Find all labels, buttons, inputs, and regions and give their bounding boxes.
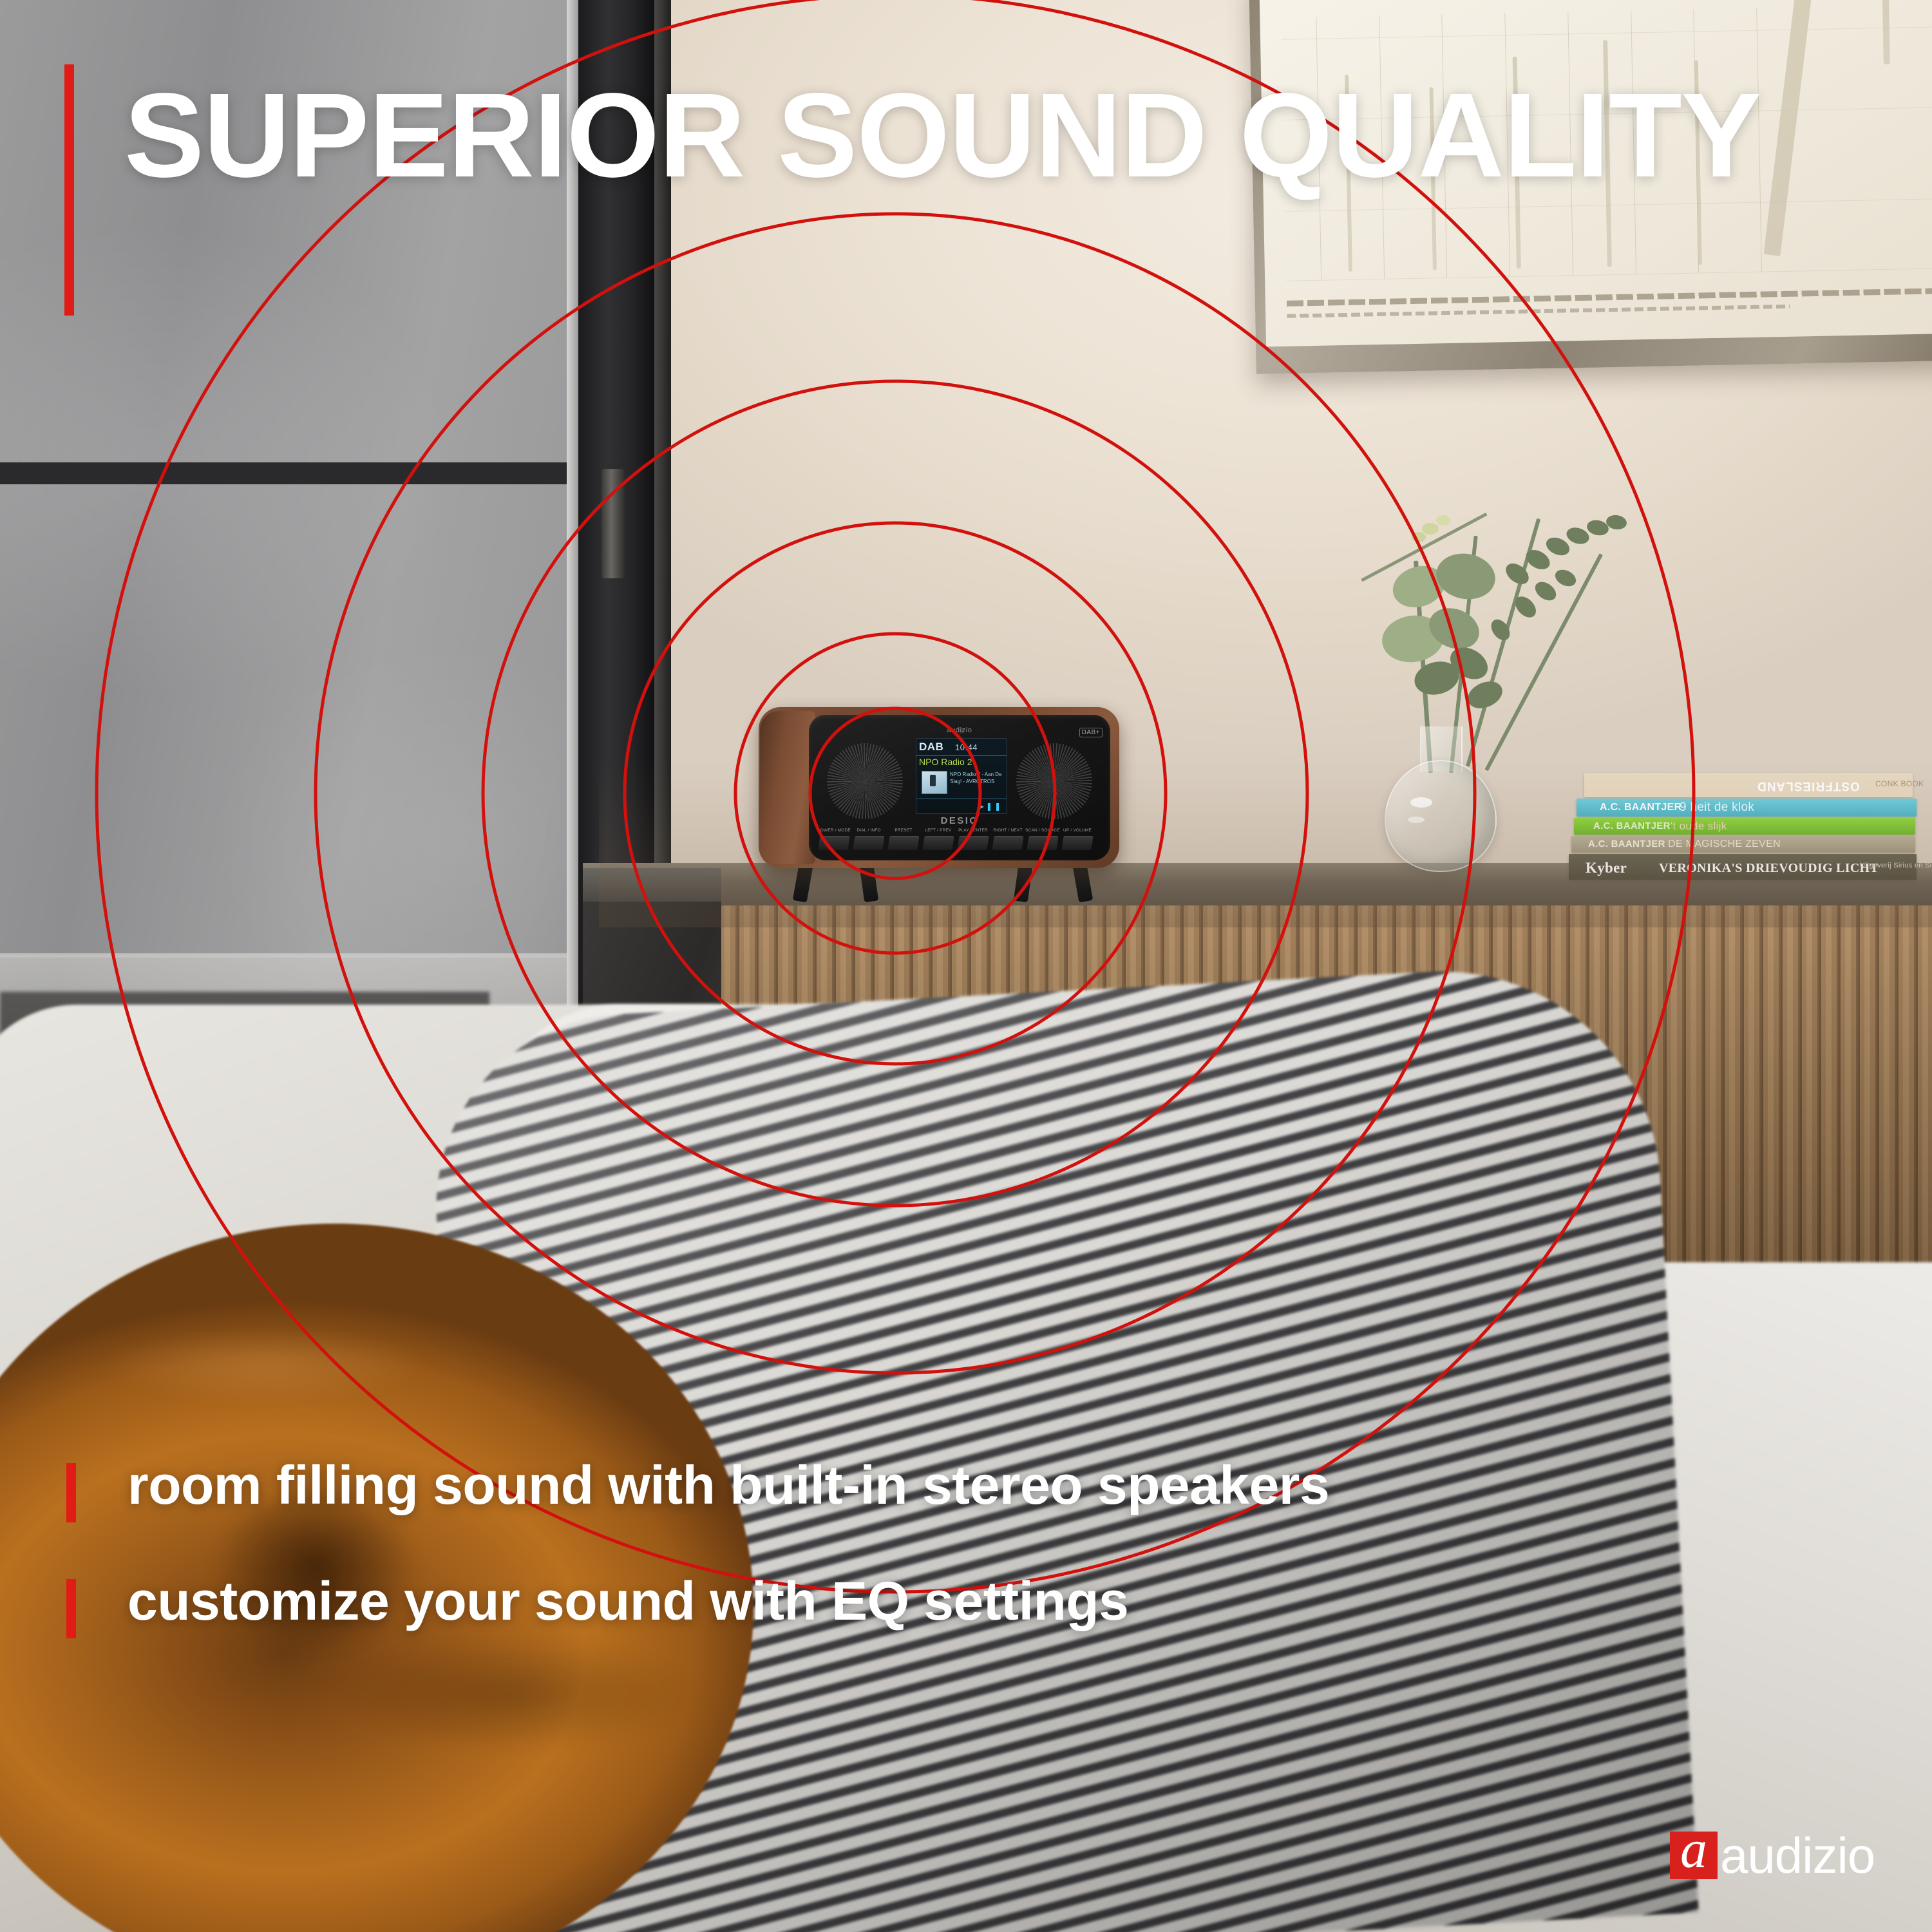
display-album-art <box>922 771 947 794</box>
radio-button-label: SCAN / SOURCE <box>1023 828 1063 833</box>
dab-radio-product: audizio DAB+ DAB 10:44 NPO Radio 2 NPO R… <box>759 707 1119 900</box>
page-title: SUPERIOR SOUND QUALITY <box>124 76 1761 196</box>
door-hinge <box>601 469 625 578</box>
radio-button[interactable] <box>1061 836 1093 850</box>
logo-wordmark: audizio <box>1720 1830 1875 1880</box>
radio-button-label: DIAL / INFO <box>849 828 889 833</box>
display-station-name: NPO Radio 2 <box>919 757 972 767</box>
product-model-name: DESIO <box>809 815 1110 826</box>
radio-button-label: PLAY / ENTER <box>953 828 993 833</box>
radio-button[interactable] <box>922 836 954 850</box>
radio-side-panel <box>760 711 815 864</box>
radio-button[interactable] <box>887 836 919 850</box>
headline-accent-bar <box>64 64 74 316</box>
radio-button-label: RIGHT / NEXT <box>988 828 1028 833</box>
display-track-meta: NPO Radio 2 - Aan De Slag! - AVROTROS <box>950 771 1004 785</box>
radio-button-label: PRESET <box>884 828 923 833</box>
radio-button-label: LEFT / PREV <box>918 828 958 833</box>
display-playback-icons: ▶❚❚ <box>978 802 1003 811</box>
feature-item-1: room filling sound with built-in stereo … <box>128 1454 1329 1517</box>
brand-logo: a audizio <box>1670 1826 1882 1888</box>
eucalyptus-arrangement <box>1352 489 1713 792</box>
radio-button[interactable] <box>818 836 849 850</box>
speaker-grille-left <box>827 743 903 819</box>
feature-accent-bar <box>66 1463 76 1522</box>
dab-plus-badge: DAB+ <box>1079 728 1103 737</box>
promo-banner: OSTFRIESLAND CONK BOOK A.C. BAANTJER 9 h… <box>0 0 1932 1932</box>
radio-button-label: UP / VOLUME <box>1057 828 1097 833</box>
radio-button-row: POWER / MODE DIAL / INFO PRESET LEFT / P… <box>818 828 1101 854</box>
radio-button[interactable] <box>957 836 989 850</box>
radio-button[interactable] <box>853 836 884 850</box>
room-photo: OSTFRIESLAND CONK BOOK A.C. BAANTJER 9 h… <box>0 0 1932 1932</box>
radio-display: DAB 10:44 NPO Radio 2 NPO Radio 2 - Aan … <box>916 738 1007 814</box>
radio-button-label: POWER / MODE <box>814 828 854 833</box>
radio-front-panel: audizio DAB+ DAB 10:44 NPO Radio 2 NPO R… <box>809 715 1110 860</box>
logo-a-glyph: a <box>1674 1828 1714 1873</box>
radio-brand-label: audizio <box>809 726 1110 734</box>
display-clock: 10:44 <box>955 743 978 752</box>
feature-accent-bar <box>66 1579 76 1638</box>
radio-button[interactable] <box>1027 836 1058 850</box>
speaker-grille-right <box>1016 743 1092 819</box>
radio-button[interactable] <box>992 836 1023 850</box>
partition-crossbar <box>0 462 605 484</box>
display-mode: DAB <box>919 741 943 753</box>
feature-item-2: customize your sound with EQ settings <box>128 1570 1128 1633</box>
